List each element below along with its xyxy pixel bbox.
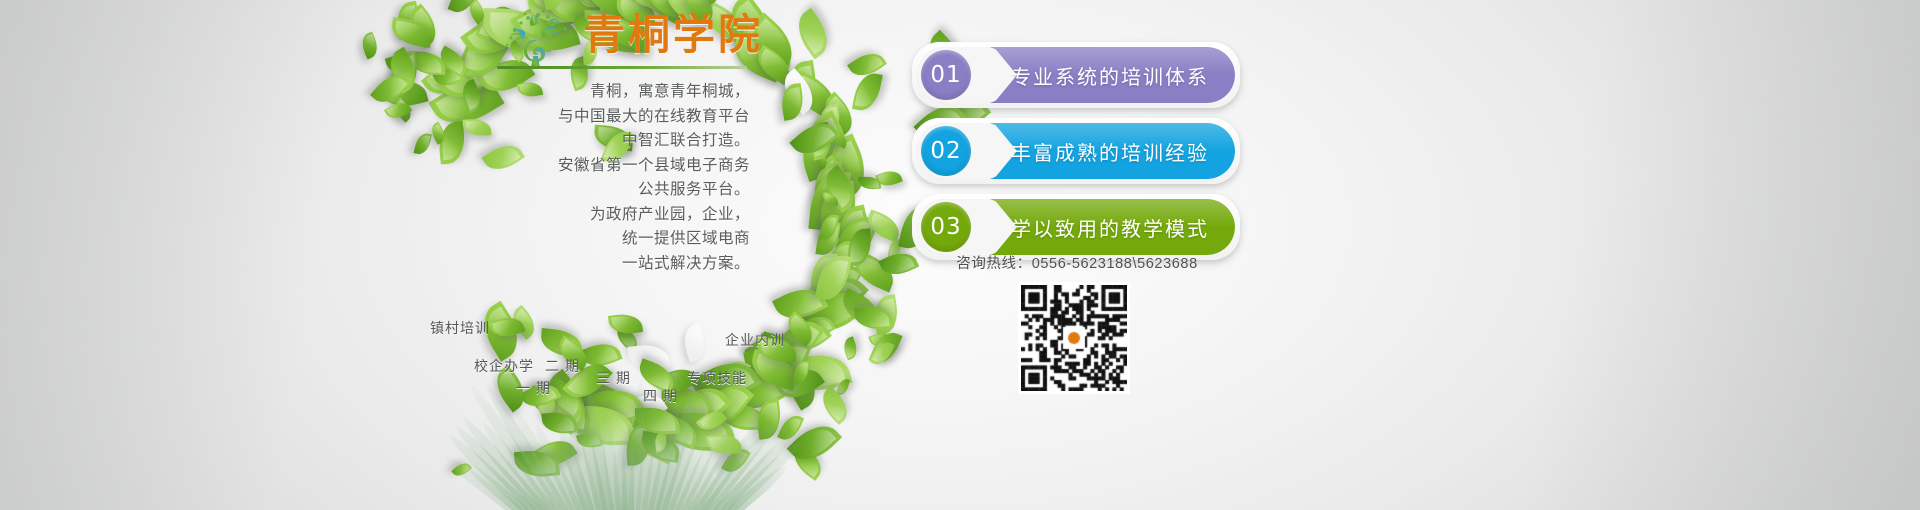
brand-logo: 青桐学院 bbox=[495, 4, 750, 74]
feature-badge-01[interactable]: 01专业系统的培训体系 bbox=[912, 42, 1240, 108]
description-line: 为政府产业园，企业， bbox=[460, 203, 750, 228]
description-text: 青桐，寓意青年桐城，与中国最大的在线教育平台中智汇联合打造。安徽省第一个县域电子… bbox=[460, 80, 750, 276]
feature-badge-02[interactable]: 02丰富成熟的培训经验 bbox=[912, 118, 1240, 184]
caption-label: 二 期 bbox=[545, 356, 580, 376]
leaf-decoration bbox=[358, 31, 381, 59]
logo-underline bbox=[497, 66, 747, 69]
description-line: 安徽省第一个县域电子商务 bbox=[460, 154, 750, 179]
description-line: 一站式解决方案。 bbox=[460, 252, 750, 277]
description-line: 公共服务平台。 bbox=[460, 178, 750, 203]
caption-label: 专项技能 bbox=[687, 368, 747, 388]
badge-label: 丰富成熟的培训经验 bbox=[1011, 123, 1225, 179]
badge-inner: 03学以致用的教学模式 bbox=[917, 199, 1235, 255]
badge-inner: 01专业系统的培训体系 bbox=[917, 47, 1235, 103]
caption-label: 四 期 bbox=[643, 386, 678, 406]
badge-number: 03 bbox=[921, 202, 971, 252]
leaf-decoration bbox=[789, 8, 837, 60]
description-line: 中智汇联合打造。 bbox=[460, 129, 750, 154]
leaf-decoration bbox=[852, 71, 883, 114]
feature-badge-03[interactable]: 03学以致用的教学模式 bbox=[912, 194, 1240, 260]
hotline-text: 咨询热线：0556-5623188\5623688 bbox=[912, 252, 1242, 273]
badge-label: 专业系统的培训体系 bbox=[1011, 47, 1225, 103]
badge-label: 学以致用的教学模式 bbox=[1011, 199, 1225, 255]
caption-label: 三 期 bbox=[596, 368, 631, 388]
description-line: 与中国最大的在线教育平台 bbox=[460, 105, 750, 130]
qr-code bbox=[1018, 282, 1130, 394]
promo-banner: 青桐学院 青桐，寓意青年桐城，与中国最大的在线教育平台中智汇联合打造。安徽省第一… bbox=[0, 0, 1920, 510]
leaf-decoration bbox=[414, 131, 432, 155]
caption-label: 校企办学 bbox=[474, 356, 534, 376]
leaf-decoration bbox=[608, 312, 643, 336]
brand-name: 青桐学院 bbox=[583, 9, 763, 61]
caption-label: 企业内训 bbox=[725, 330, 785, 350]
badge-inner: 02丰富成熟的培训经验 bbox=[917, 123, 1235, 179]
caption-label: 一 期 bbox=[516, 378, 551, 398]
description-line: 青桐，寓意青年桐城， bbox=[460, 80, 750, 105]
caption-label: 镇村培训 bbox=[430, 318, 490, 338]
qr-code-image bbox=[1021, 285, 1127, 391]
badge-number: 01 bbox=[921, 50, 971, 100]
description-line: 统一提供区域电商 bbox=[460, 227, 750, 252]
tree-logo-icon bbox=[495, 6, 581, 68]
badge-number: 02 bbox=[921, 126, 971, 176]
leaf-decoration bbox=[816, 386, 855, 425]
leaf-decoration bbox=[841, 336, 860, 360]
feature-badge-list: 01专业系统的培训体系02丰富成熟的培训经验03学以致用的教学模式 bbox=[912, 42, 1242, 270]
